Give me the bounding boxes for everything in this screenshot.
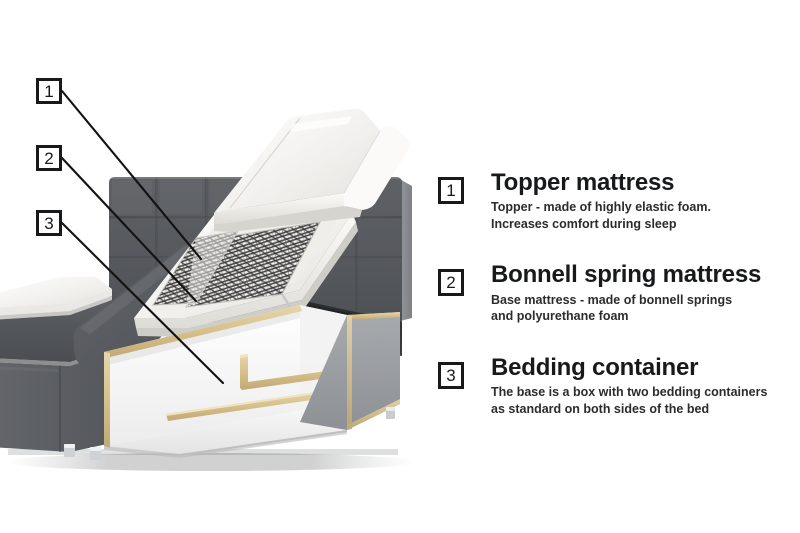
legend-description-line-1: Topper - made of highly elastic foam. xyxy=(491,199,711,216)
legend-description: Base mattress - made of bonnell springs … xyxy=(491,292,761,325)
legend-item-bonnell-spring-mattress: 2 Bonnell spring mattress Base mattress … xyxy=(438,262,790,324)
callout-number-3: 3 xyxy=(36,210,62,236)
legend-list: 1 Topper mattress Topper - made of highl… xyxy=(438,160,790,417)
legend-item-topper-mattress: 1 Topper mattress Topper - made of highl… xyxy=(438,170,790,232)
legend-description: The base is a box with two bedding conta… xyxy=(491,384,767,417)
callout-number-2: 2 xyxy=(36,145,62,171)
legend-text-block: Bedding container The base is a box with… xyxy=(491,355,767,417)
legend-title: Topper mattress xyxy=(491,170,711,195)
bed-illustration xyxy=(0,0,430,533)
legend-number-2: 2 xyxy=(438,269,464,296)
legend-title: Bonnell spring mattress xyxy=(491,262,761,287)
legend-description-line-2: and polyurethane foam xyxy=(491,308,761,325)
legend-title: Bedding container xyxy=(491,355,767,380)
legend-description-line-2: as standard on both sides of the bed xyxy=(491,401,767,418)
legend-description-line-1: The base is a box with two bedding conta… xyxy=(491,384,767,401)
legend-text-block: Topper mattress Topper - made of highly … xyxy=(491,170,711,232)
legend-number-1: 1 xyxy=(438,177,464,204)
infographic-page: 1 2 3 1 Topper mattress Topper - made of… xyxy=(0,0,800,533)
legend-text-block: Bonnell spring mattress Base mattress - … xyxy=(491,262,761,324)
callout-number-1: 1 xyxy=(36,78,62,104)
legend-number-3: 3 xyxy=(438,362,464,389)
legend-description-line-2: Increases comfort during sleep xyxy=(491,216,711,233)
legend-description: Topper - made of highly elastic foam. In… xyxy=(491,199,711,232)
legend-item-bedding-container: 3 Bedding container The base is a box wi… xyxy=(438,355,790,417)
legend-description-line-1: Base mattress - made of bonnell springs xyxy=(491,292,761,309)
